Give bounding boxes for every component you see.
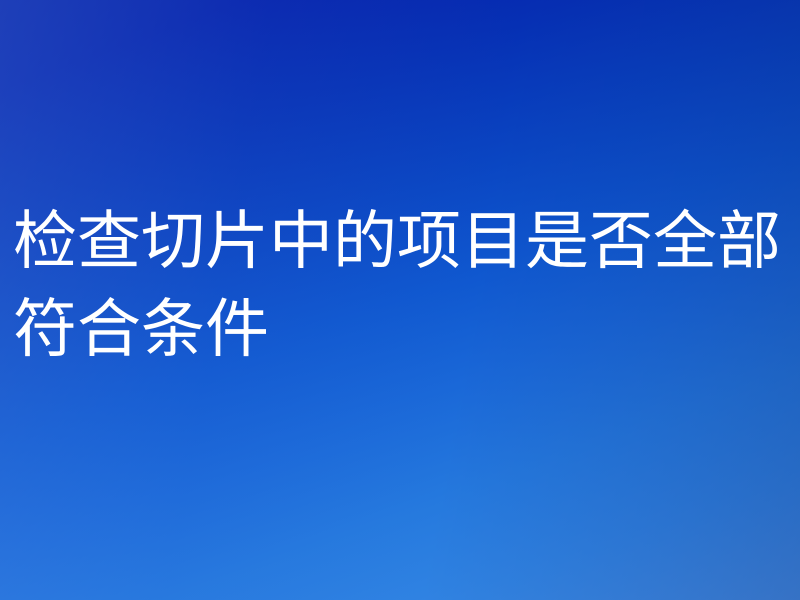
headline-block: 检查切片中的项目是否全部符合条件 [13,198,793,374]
banner-headline: 检查切片中的项目是否全部符合条件 [13,198,793,374]
banner-card: 检查切片中的项目是否全部符合条件 [0,0,800,600]
